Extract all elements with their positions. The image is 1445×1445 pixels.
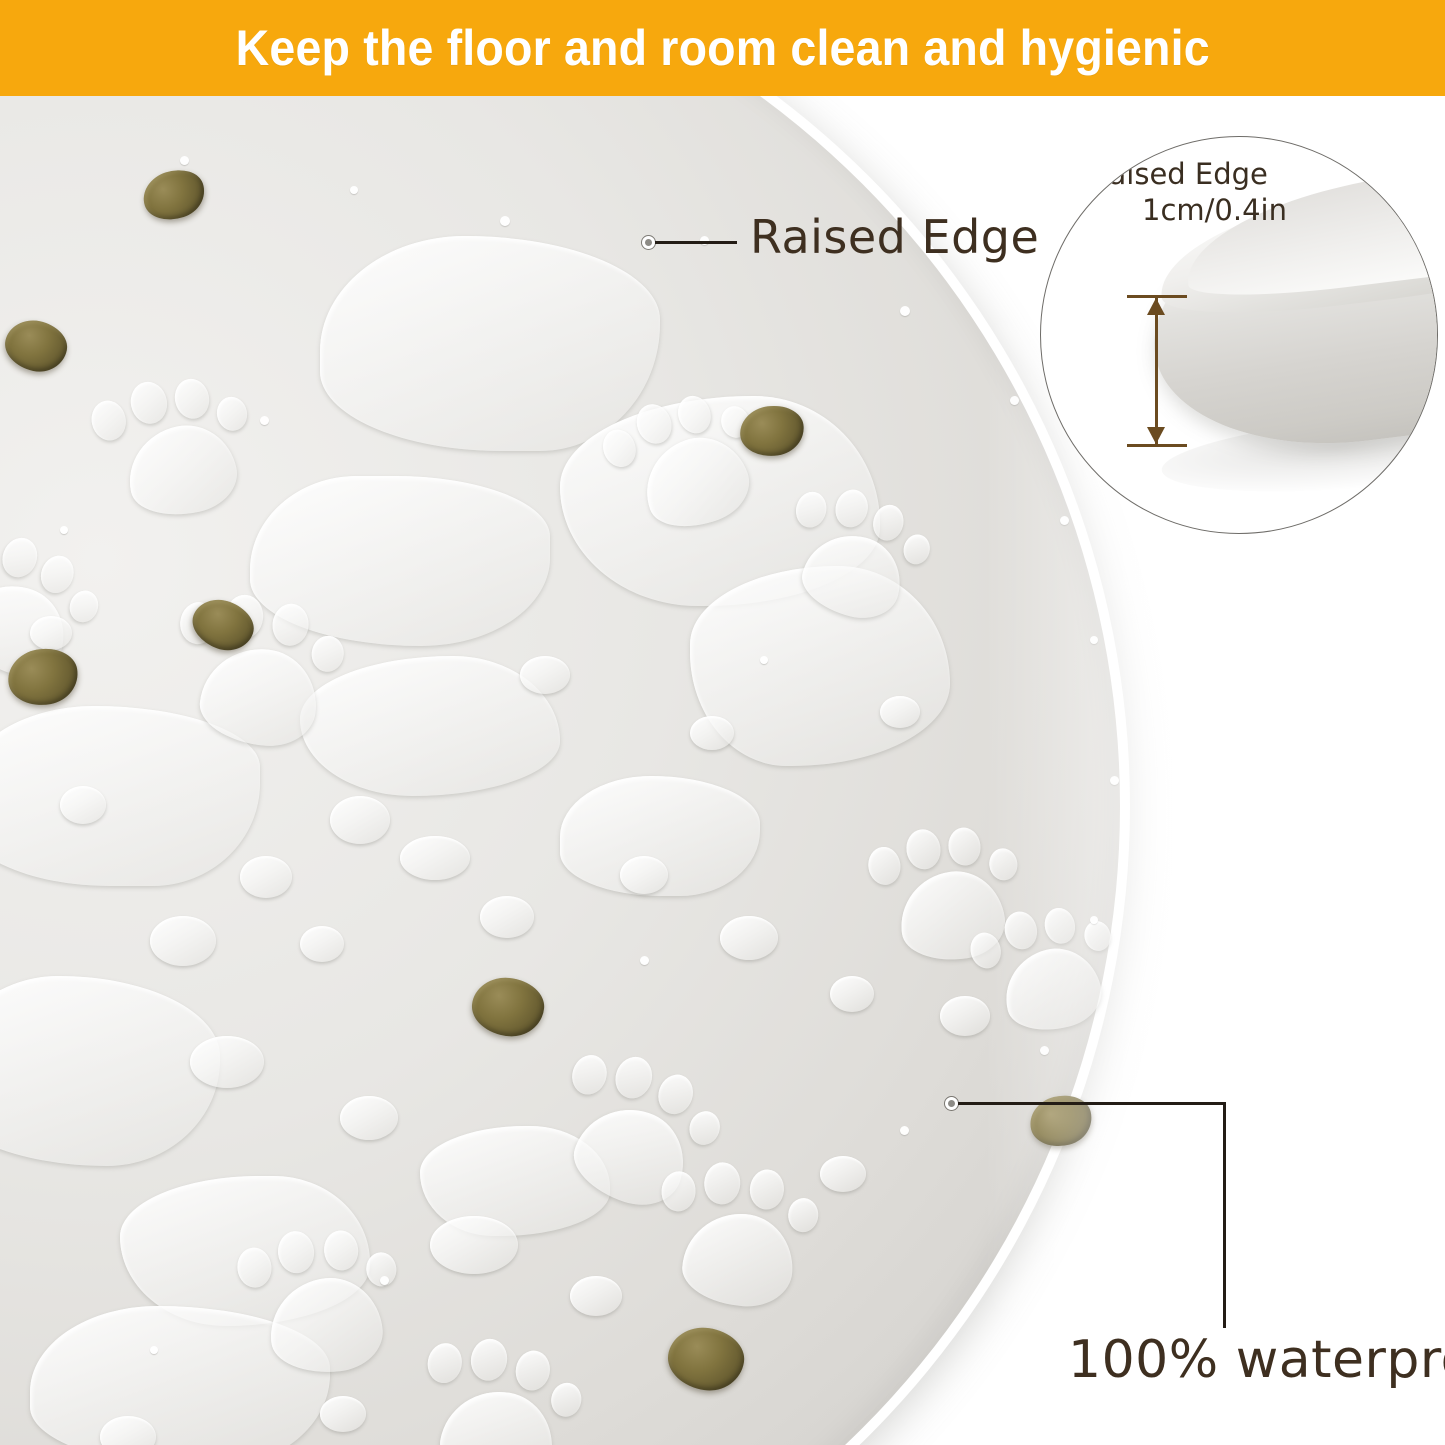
dimension-arrow [1127, 295, 1199, 447]
dimension-shaft [1155, 298, 1158, 444]
inset-detail-circle: Raised Edge 1cm/0.4in [1040, 136, 1438, 534]
inset-measurement: 1cm/0.4in [1059, 193, 1289, 229]
callout-dot-waterproof [945, 1097, 958, 1110]
callout-leader-waterproof-vertical [1223, 1102, 1226, 1328]
dimension-cap-bottom [1127, 444, 1187, 447]
callout-dot-raised-edge [642, 236, 655, 249]
product-infographic: Keep the floor and room clean and hygien… [0, 0, 1445, 1445]
header-banner: Keep the floor and room clean and hygien… [0, 0, 1445, 96]
banner-headline: Keep the floor and room clean and hygien… [235, 19, 1209, 77]
callout-leader-raised-edge [655, 241, 737, 244]
inset-title: Raised Edge [1059, 157, 1289, 193]
dimension-arrowhead-down-icon [1147, 427, 1165, 444]
pet-feeding-mat [0, 96, 1120, 1445]
callout-leader-waterproof-horizontal [958, 1102, 1226, 1105]
dimension-arrowhead-up-icon [1147, 298, 1165, 315]
callout-label-raised-edge: Raised Edge [750, 210, 1039, 264]
inset-text-block: Raised Edge 1cm/0.4in [1059, 157, 1289, 229]
callout-label-waterproof: 100% waterproof [1068, 1330, 1445, 1390]
tray-inner-groove [0, 96, 1120, 1445]
